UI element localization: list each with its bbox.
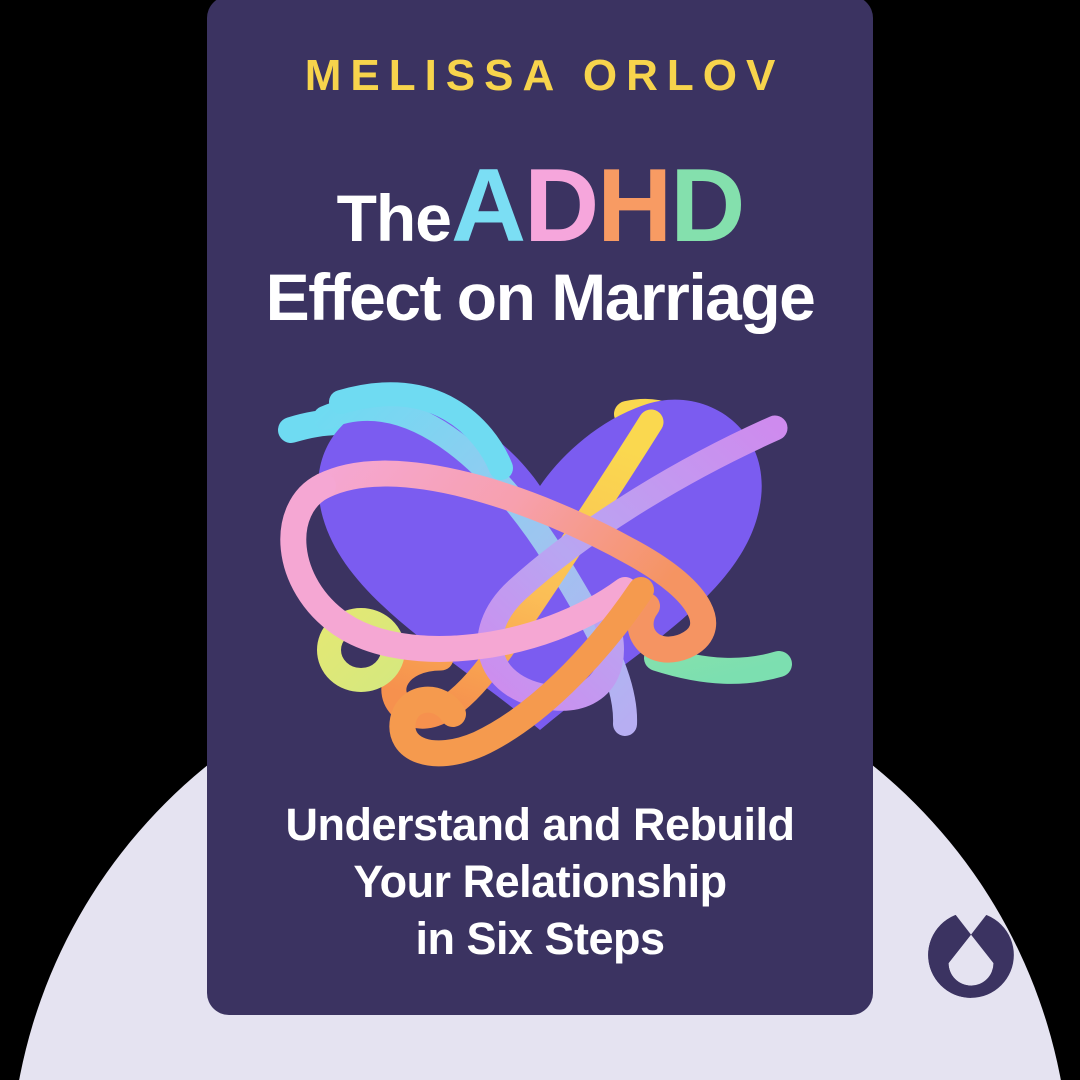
book-cover-stage: MELISSA ORLOV TheADHD Effect on Marriage [0,0,1080,1080]
title-letter-a: A [451,148,524,264]
title-line-1: TheADHD [207,154,873,258]
subtitle-line-1: Understand and Rebuild [207,796,873,853]
title-letter-d-second: D [670,148,743,264]
title-line-2: Effect on Marriage [207,262,873,333]
author-name: MELISSA ORLOV [207,54,873,98]
book-title: TheADHD Effect on Marriage [207,154,873,333]
blinkist-logo[interactable] [920,904,1022,1006]
subtitle-line-3: in Six Steps [207,910,873,967]
title-letter-h: H [597,148,670,264]
book-cover-card[interactable]: MELISSA ORLOV TheADHD Effect on Marriage [207,0,873,1015]
title-letter-d-first: D [524,148,597,264]
subtitle-line-2: Your Relationship [207,853,873,910]
tangled-heart-illustration [255,358,825,778]
title-word-the: The [337,181,451,255]
book-subtitle: Understand and Rebuild Your Relationship… [207,796,873,967]
